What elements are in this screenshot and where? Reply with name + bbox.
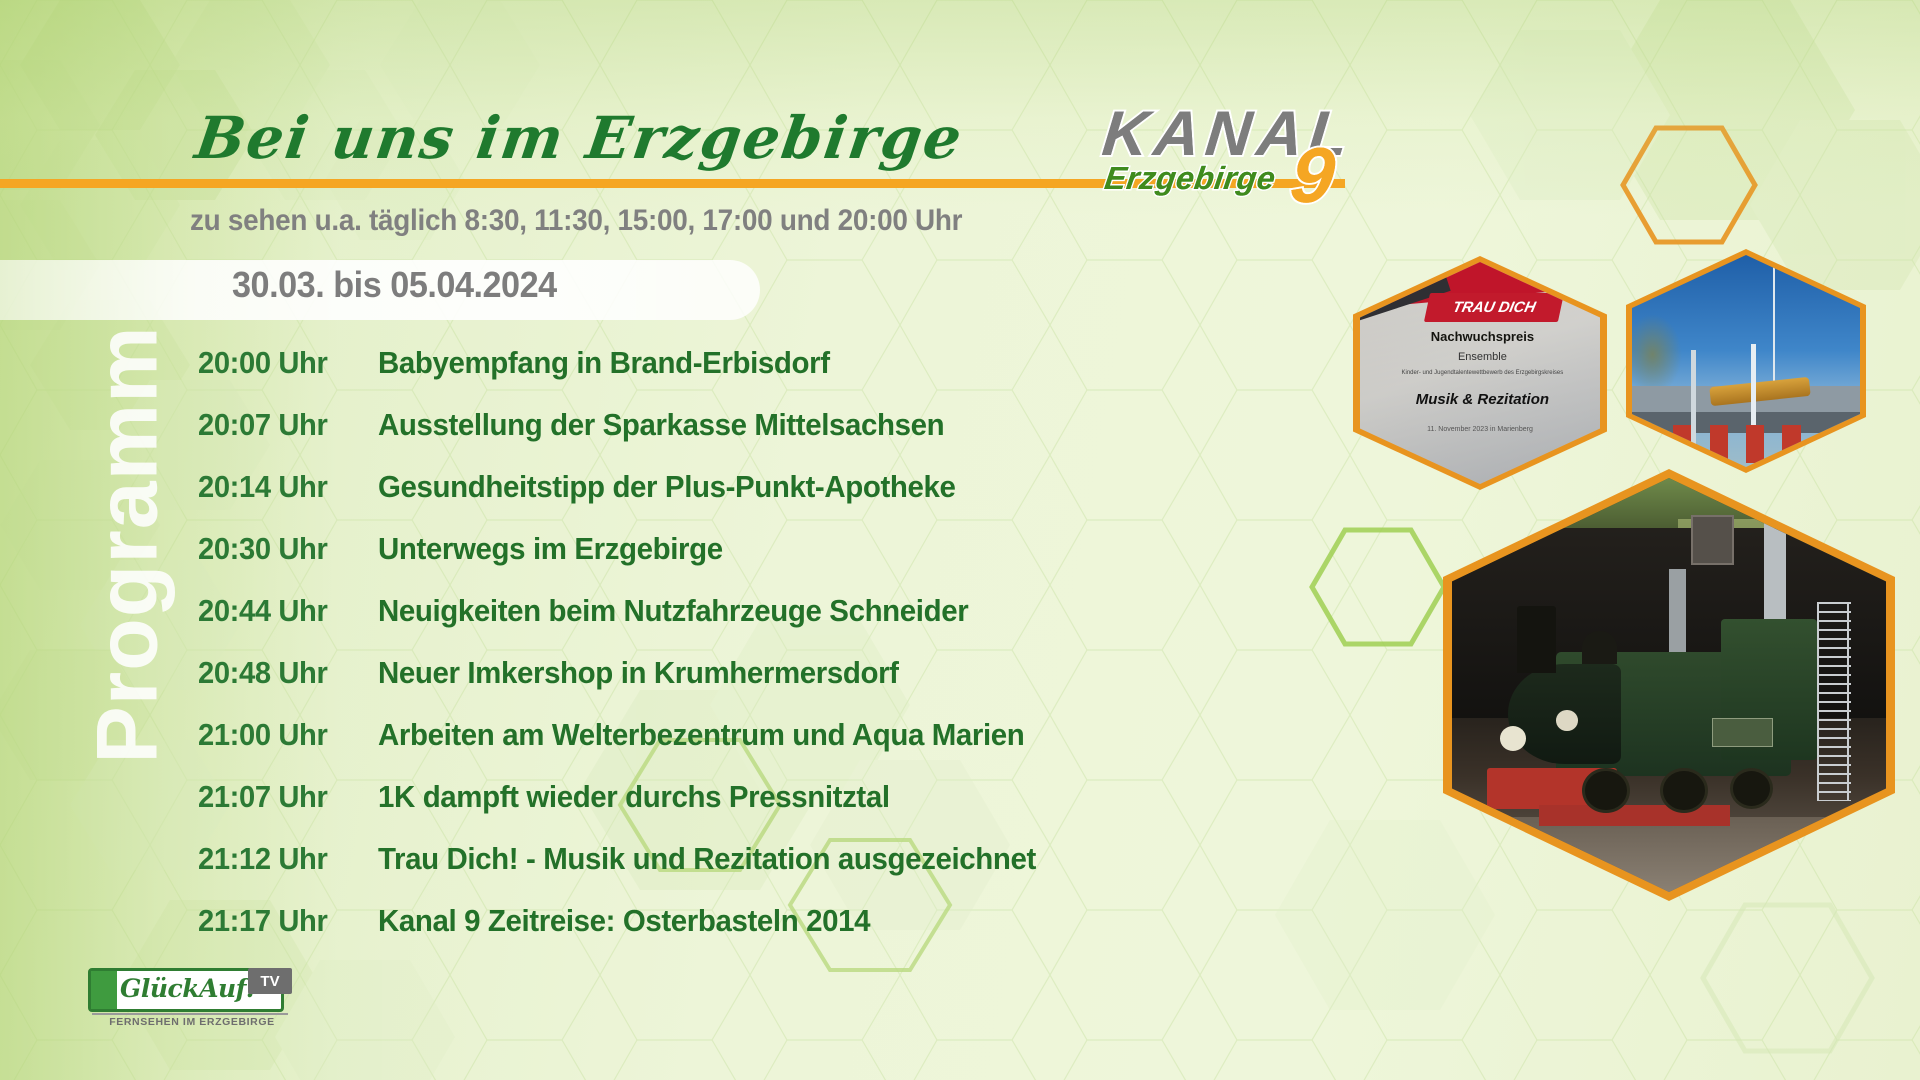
locomotive-wheel-3 [1730,768,1773,809]
photo-ladder-rungs [1817,602,1852,801]
locomotive-headlight-1 [1500,726,1526,751]
photo-mast-left [1691,350,1696,445]
program-title: Neuigkeiten beim Nutzfahrzeuge Schneider [378,593,968,629]
header: Bei uns im Erzgebirge zu sehen u.a. tägl… [0,0,1920,250]
list-item[interactable]: 21:17 Uhr Kanal 9 Zeitreise: Osterbastel… [198,903,1098,965]
locomotive-wheel-1 [1582,768,1630,814]
poster-brand-badge: TRAU DICH [1424,293,1565,322]
locomotive-smokestack [1517,606,1556,672]
locomotive-red-frame [1539,805,1730,826]
glueckauf-tv-logo: GlückAuf! TV FERNSEHEN IM ERZGEBIRGE [88,968,298,1040]
program-time: 20:14 Uhr [198,469,367,505]
poster-line1: Nachwuchspreis [1408,329,1557,344]
program-title: Trau Dich! - Musik und Rezitation ausgez… [378,841,1036,877]
program-time: 21:00 Uhr [198,717,367,753]
list-item[interactable]: 20:44 Uhr Neuigkeiten beim Nutzfahrzeuge… [198,593,1098,655]
poster-line4: Musik & Rezitation [1379,391,1585,408]
erzgebirge-wordmark: Erzgebirge [1102,160,1278,197]
glueckauf-green-block [91,971,117,1009]
program-time: 20:07 Uhr [198,407,367,443]
glueckauf-tv-badge: TV [248,968,292,994]
glueckauf-divider [92,1013,288,1015]
channel-number: 9 [1286,130,1339,221]
poster-line2: Ensemble [1408,351,1557,363]
program-title: 1K dampft wieder durchs Pressnitztal [378,779,890,815]
locomotive-steam-dome [1582,631,1617,664]
page-title: Bei uns im Erzgebirge [191,104,967,172]
locomotive-number-plate [1712,718,1773,747]
list-item[interactable]: 21:07 Uhr 1K dampft wieder durchs Pressn… [198,779,1098,841]
photo-red-post-3 [1746,425,1764,463]
locomotive-wheel-2 [1660,768,1708,814]
program-list: 20:00 Uhr Babyempfang in Brand-Erbisdorf… [198,345,1098,965]
program-title: Gesundheitstipp der Plus-Punkt-Apotheke [378,469,956,505]
list-item[interactable]: 20:30 Uhr Unterwegs im Erzgebirge [198,531,1098,593]
program-time: 21:17 Uhr [198,903,367,939]
glueckauf-tagline: FERNSEHEN IM ERZGEBIRGE [92,1016,292,1028]
program-title: Unterwegs im Erzgebirge [378,531,723,567]
program-title: Arbeiten am Welterbezentrum und Aqua Mar… [378,717,1024,753]
list-item[interactable]: 21:12 Uhr Trau Dich! - Musik und Rezitat… [198,841,1098,903]
poster-line5: 11. November 2023 in Marienberg [1403,424,1557,435]
program-time: 20:48 Uhr [198,655,367,691]
glueckauf-wordmark: GlückAuf! [120,974,256,1003]
program-time: 20:30 Uhr [198,531,367,567]
program-title: Neuer Imkershop in Krumhermersdorf [378,655,899,691]
locomotive-headlight-2 [1556,710,1578,731]
airtimes-text: zu sehen u.a. täglich 8:30, 11:30, 15:00… [190,204,962,238]
list-item[interactable]: 21:00 Uhr Arbeiten am Welterbezentrum un… [198,717,1098,779]
program-title: Babyempfang in Brand-Erbisdorf [378,345,830,381]
photo-wall-plate [1691,515,1734,565]
list-item[interactable]: 20:00 Uhr Babyempfang in Brand-Erbisdorf [198,345,1098,407]
list-item[interactable]: 20:14 Uhr Gesundheitstipp der Plus-Punkt… [198,469,1098,531]
list-item[interactable]: 20:48 Uhr Neuer Imkershop in Krumhermers… [198,655,1098,717]
photo-crane-cable [1773,255,1775,386]
date-range-label: 30.03. bis 05.04.2024 [232,264,557,306]
poster-line3: Kinder- und Jugendtalentewettbewerb des … [1394,369,1572,378]
kanal9-logo: KANAL KANAL Erzgebirge Erzgebirge 9 9 [1095,98,1425,208]
program-title: Ausstellung der Sparkasse Mittelsachsen [378,407,944,443]
list-item[interactable]: 20:07 Uhr Ausstellung der Sparkasse Mitt… [198,407,1098,469]
program-time: 21:07 Uhr [198,779,367,815]
program-time: 20:44 Uhr [198,593,367,629]
program-time: 20:00 Uhr [198,345,367,381]
photo-chimney-mid [1669,569,1686,660]
program-time: 21:12 Uhr [198,841,367,877]
program-title: Kanal 9 Zeitreise: Osterbasteln 2014 [378,903,870,939]
photo-tree-shape [1632,314,1682,395]
